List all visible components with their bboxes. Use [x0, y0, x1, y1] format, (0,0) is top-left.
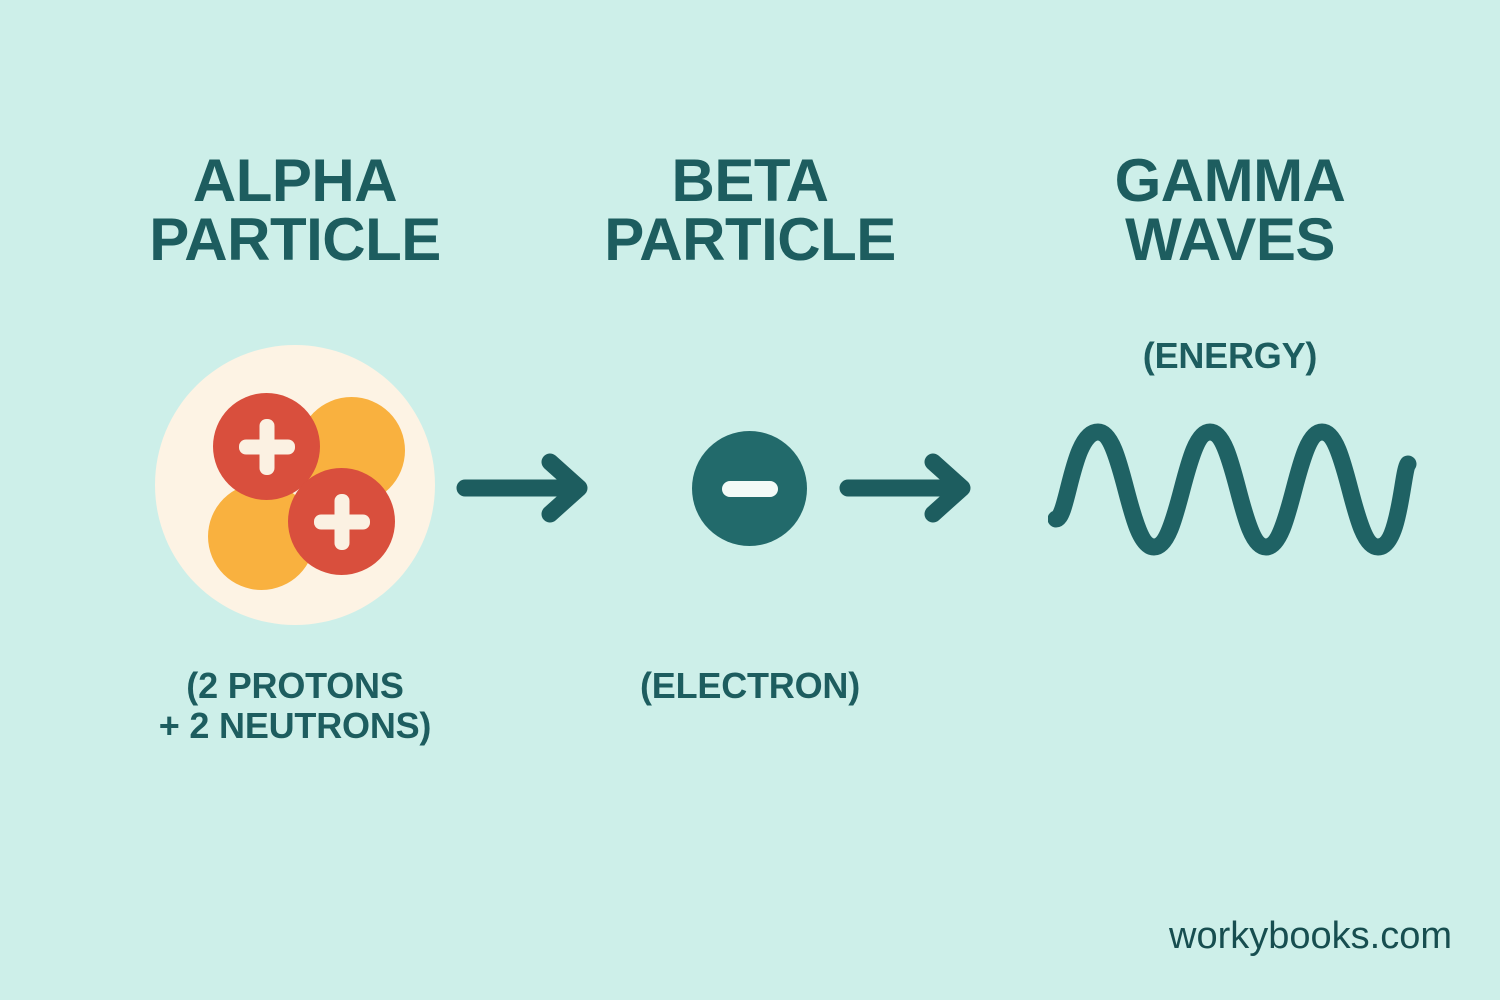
gamma-waves-subcaption: (ENERGY) [1000, 336, 1460, 376]
gamma-wave [1048, 402, 1418, 577]
alpha-particle-title: ALPHA PARTICLE [60, 152, 530, 270]
watermark: workybooks.com [1169, 915, 1452, 958]
diagram-canvas: ALPHA PARTICLE (2 PROTONS + 2 NEUTRONS) … [0, 0, 1500, 1000]
plus-icon [239, 419, 295, 475]
beta-particle-caption: (ELECTRON) [545, 666, 955, 706]
arrow-right-icon [838, 452, 978, 524]
gamma-waves-column: GAMMA WAVES (ENERGY) [1000, 0, 1460, 1000]
beta-particle-circle [692, 431, 807, 546]
alpha-particle-caption: (2 PROTONS + 2 NEUTRONS) [60, 666, 530, 747]
minus-icon [722, 481, 778, 497]
beta-particle-title: BETA PARTICLE [545, 152, 955, 270]
alpha-particle-cluster [155, 345, 435, 625]
proton-circle-bottom-right [288, 468, 395, 575]
plus-icon [314, 494, 370, 550]
gamma-waves-title: GAMMA WAVES [1000, 152, 1460, 270]
electron-disc [692, 431, 807, 546]
